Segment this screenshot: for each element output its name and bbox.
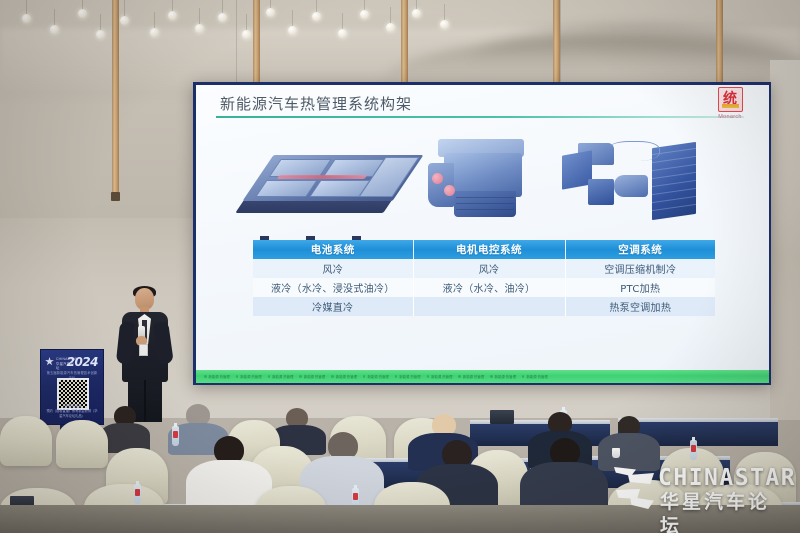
led-banner-item: 新能源 热管理 bbox=[236, 374, 262, 379]
led-dot-icon bbox=[204, 375, 207, 378]
watermark-brand-cn: 华星汽车论坛 bbox=[660, 490, 790, 533]
pendant-light bbox=[150, 28, 159, 37]
led-banner-text: 新能源 热管理 bbox=[399, 374, 420, 379]
table-row: 液冷（水冷、浸没式油冷） 液冷（水冷、油冷） PTC加热 bbox=[253, 278, 715, 297]
table-cell bbox=[413, 297, 565, 316]
led-dot-icon bbox=[522, 375, 525, 378]
table-cell: 风冷 bbox=[253, 259, 413, 278]
table-row: 风冷 风冷 空调压缩机制冷 bbox=[253, 259, 715, 278]
led-banner-text: 新能源 热管理 bbox=[367, 374, 388, 379]
table-row: 冷媒直冷 热泵空调加热 bbox=[253, 297, 715, 316]
table-cell: 冷媒直冷 bbox=[253, 297, 413, 316]
pendant-light bbox=[195, 24, 204, 33]
slide-title: 新能源汽车热管理系统构架 bbox=[220, 93, 412, 114]
led-banner-item: 新能源 热管理 bbox=[204, 374, 230, 379]
laptop bbox=[490, 410, 514, 424]
led-banner-item: 新能源 热管理 bbox=[490, 374, 516, 379]
led-dot-icon bbox=[363, 375, 366, 378]
led-dot-icon bbox=[395, 375, 398, 378]
presentation-screen: 新能源汽车热管理系统构架 统 Monarch bbox=[193, 82, 771, 385]
led-dot-icon bbox=[299, 375, 302, 378]
led-banner-text: 新能源 热管理 bbox=[463, 374, 484, 379]
brand-name: Monarch bbox=[713, 114, 747, 120]
conference-hall-scene: 新能源汽车热管理系统构架 统 Monarch bbox=[0, 0, 800, 533]
led-dot-icon bbox=[331, 375, 334, 378]
water-bottle bbox=[134, 484, 141, 504]
watermark-brand-en: CHINASTAR bbox=[658, 465, 796, 491]
battery-pack-image bbox=[244, 141, 420, 237]
table-header-cell: 电池系统 bbox=[253, 240, 413, 259]
led-banner-text: 新能源 热管理 bbox=[495, 374, 516, 379]
table-header-cell: 电机电控系统 bbox=[413, 240, 565, 259]
led-banner-item: 新能源 热管理 bbox=[363, 374, 389, 379]
led-dot-icon bbox=[268, 375, 271, 378]
led-banner-text: 新能源 热管理 bbox=[304, 374, 325, 379]
motor-controller-image bbox=[422, 133, 538, 233]
pendant-light bbox=[218, 13, 227, 22]
table-cell: 空调压缩机制冷 bbox=[565, 259, 715, 278]
pendant-light bbox=[360, 10, 369, 19]
slide-surface: 新能源汽车热管理系统构架 统 Monarch bbox=[196, 85, 769, 383]
standee-year: 2024 bbox=[67, 355, 98, 369]
led-dot-icon bbox=[458, 375, 461, 378]
wall-pillar bbox=[111, 192, 120, 201]
led-banner-item: 新能源 热管理 bbox=[522, 374, 548, 379]
led-banner-item: 新能源 热管理 bbox=[331, 374, 357, 379]
monarch-logo-icon: 统 bbox=[718, 87, 743, 112]
pendant-light bbox=[96, 30, 105, 39]
water-bottle bbox=[172, 426, 179, 446]
led-dot-icon bbox=[236, 375, 239, 378]
wall-right-panel bbox=[770, 60, 800, 420]
table-cell: 热泵空调加热 bbox=[565, 297, 715, 316]
led-banner-item: 新能源 热管理 bbox=[268, 374, 294, 379]
pendant-light bbox=[168, 11, 177, 20]
pendant-light bbox=[288, 26, 297, 35]
water-bottle bbox=[690, 440, 697, 460]
led-dot-icon bbox=[490, 375, 493, 378]
star-bird-icon bbox=[45, 357, 54, 366]
table-header-cell: 空调系统 bbox=[565, 240, 715, 259]
table-cell: 液冷（水冷、油冷） bbox=[413, 278, 565, 297]
pendant-light bbox=[312, 12, 321, 21]
led-banner-text: 新能源 热管理 bbox=[272, 374, 293, 379]
led-banner-item: 新能源 热管理 bbox=[458, 374, 484, 379]
chair bbox=[56, 420, 108, 468]
pendant-light bbox=[78, 9, 87, 18]
chair bbox=[0, 416, 52, 466]
led-banner-item: 新能源 热管理 bbox=[299, 374, 325, 379]
led-banner-item: 新能源 热管理 bbox=[427, 374, 453, 379]
led-banner-text: 新能源 热管理 bbox=[240, 374, 261, 379]
led-banner-text: 新能源 热管理 bbox=[431, 374, 452, 379]
slide-brand-logo: 统 Monarch bbox=[713, 87, 747, 120]
pendant-light bbox=[50, 25, 59, 34]
led-banner-text: 新能源 热管理 bbox=[336, 374, 357, 379]
title-underline bbox=[216, 116, 744, 118]
star-bird-icon bbox=[614, 467, 658, 513]
table-cell: 风冷 bbox=[413, 259, 565, 278]
table-header-row: 电池系统 电机电控系统 空调系统 bbox=[253, 240, 715, 259]
led-banner-text: 新能源 热管理 bbox=[526, 374, 547, 379]
pendant-light bbox=[412, 9, 421, 18]
ac-system-image bbox=[558, 135, 708, 231]
table-cell: 液冷（水冷、浸没式油冷） bbox=[253, 278, 413, 297]
pendant-light bbox=[22, 14, 31, 23]
slide-product-images bbox=[196, 131, 769, 243]
thermal-management-table: 电池系统 电机电控系统 空调系统 风冷 风冷 空调压缩机制冷 液冷（水冷、浸没式… bbox=[253, 240, 715, 316]
led-banner-item: 新能源 热管理 bbox=[395, 374, 421, 379]
pendant-light bbox=[440, 20, 449, 29]
pendant-light bbox=[266, 8, 275, 17]
table-cell: PTC加热 bbox=[565, 278, 715, 297]
led-banner-strip: 新能源 热管理新能源 热管理新能源 热管理新能源 热管理新能源 热管理新能源 热… bbox=[196, 370, 769, 383]
pendant-light bbox=[386, 23, 395, 32]
wall-pillar bbox=[716, 0, 723, 84]
pendant-light bbox=[242, 30, 251, 39]
event-watermark: CHINASTAR 华星汽车论坛 bbox=[614, 463, 790, 519]
led-dot-icon bbox=[427, 375, 430, 378]
led-banner-text: 新能源 热管理 bbox=[209, 374, 230, 379]
presenter-badge bbox=[139, 344, 148, 356]
pendant-light bbox=[338, 29, 347, 38]
pendant-light bbox=[120, 16, 129, 25]
paper-cup bbox=[612, 448, 620, 458]
wall-pillar bbox=[112, 0, 119, 196]
